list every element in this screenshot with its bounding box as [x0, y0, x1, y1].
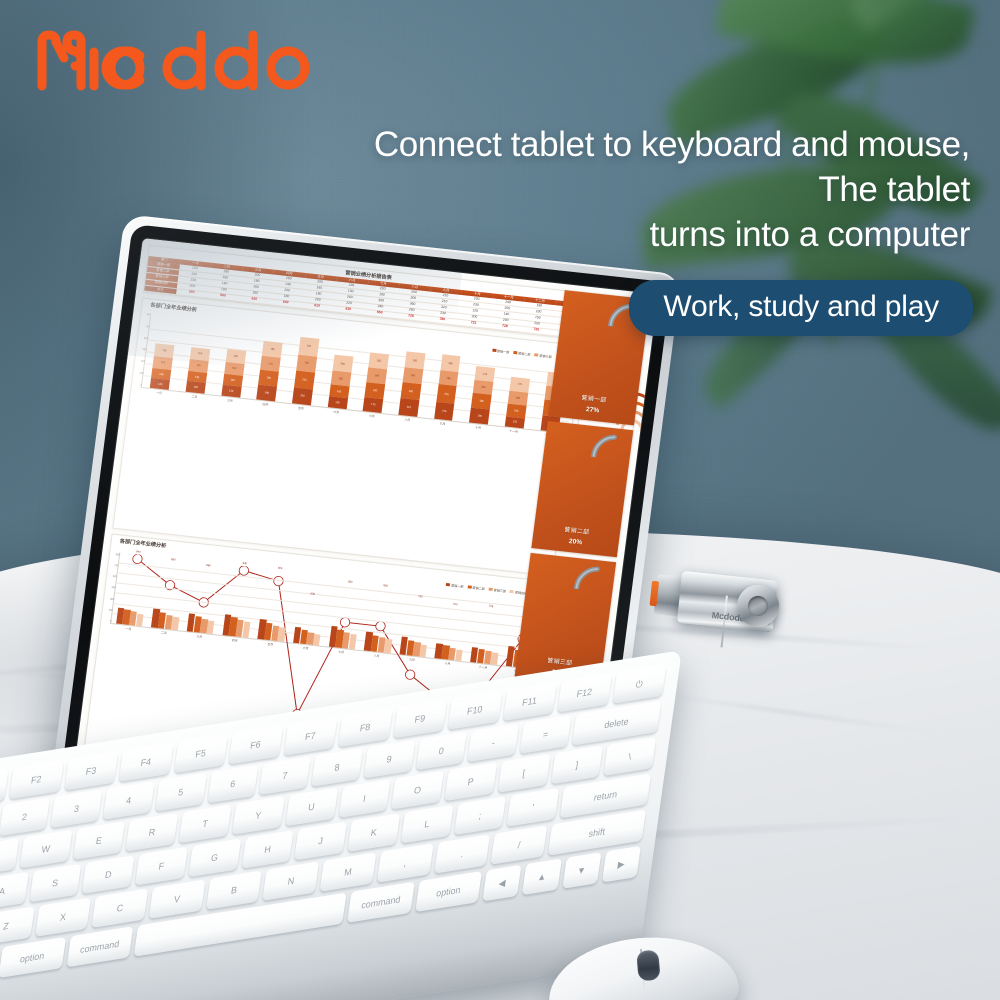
keyboard-key[interactable]: / [491, 825, 547, 864]
keyboard-key[interactable]: O [391, 771, 444, 810]
keyboard-key[interactable]: F3 [64, 752, 118, 791]
usb-flash-drive[interactable]: Mcdodo ∽ [650, 548, 809, 661]
line-data-label: 850 [383, 584, 388, 587]
x-axis-label: 六月 [292, 645, 319, 652]
keyboard-key[interactable]: ▲ [522, 859, 561, 896]
line-data-label: 890 [171, 558, 176, 561]
keyboard-key[interactable]: ▶ [602, 846, 641, 883]
keyboard-key[interactable]: D [82, 855, 135, 894]
x-axis-label: 三月 [220, 397, 239, 403]
bar-segment: 200 [401, 382, 422, 400]
keyboard-key[interactable]: 9 [363, 740, 415, 779]
keyboard-key[interactable]: Z [0, 907, 34, 946]
x-axis-label: 二月 [150, 629, 177, 636]
headline: Connect tablet to keyboard and mouse, Th… [374, 122, 970, 257]
x-axis-label: 八月 [363, 652, 390, 659]
headline-line-2: The tablet [374, 167, 970, 212]
keyboard-key[interactable]: L [401, 805, 454, 844]
keyboard-key[interactable]: C [92, 889, 148, 928]
keyboard-key[interactable]: X [35, 898, 91, 937]
keyboard-key[interactable]: . [434, 834, 490, 873]
x-axis-label: 四月 [256, 401, 275, 407]
keyboard-key[interactable]: 0 [416, 732, 468, 771]
keyboard-key[interactable]: - [468, 723, 520, 762]
bar-segment: 180 [257, 385, 278, 401]
bar-group: 二月 [151, 557, 187, 630]
keyboard-key[interactable]: T [179, 804, 232, 843]
keyboard-key[interactable]: 5 [155, 773, 207, 812]
bar-segment: 175 [363, 397, 384, 413]
keyboard-key[interactable]: H [241, 830, 294, 869]
keyboard-key[interactable]: F1 [0, 769, 9, 808]
keyboard-key[interactable]: Q [0, 838, 19, 877]
keyboard-key[interactable]: F6 [228, 725, 282, 764]
x-axis-label: 七月 [362, 413, 381, 419]
keyboard-key[interactable]: P [444, 762, 497, 801]
keyboard-key[interactable]: R [126, 813, 179, 852]
bar-group: 三月 [187, 561, 223, 634]
keyboard-key[interactable]: option [0, 937, 66, 978]
kpi-card-value: 27% [586, 406, 600, 414]
usb-housing: Mcdodo ∽ [677, 571, 778, 633]
stacked-bar: 190185215215九月 [434, 355, 461, 421]
gauge-arc-icon [572, 562, 601, 591]
keyboard-key[interactable]: F11 [502, 682, 556, 721]
keyboard-key[interactable]: Y [232, 796, 285, 835]
bar [242, 621, 250, 638]
keyboard-key[interactable]: , [377, 843, 433, 882]
line-data-label: 925 [278, 567, 283, 570]
bar-segment: 120 [150, 378, 170, 390]
keyboard-key[interactable]: F10 [448, 691, 502, 730]
kpi-card-name: 营销一部 [581, 393, 607, 405]
keyboard-key[interactable]: F12 [557, 673, 611, 712]
keyboard-key[interactable]: F4 [119, 743, 173, 782]
bar-segment: 215 [436, 384, 457, 403]
keyboard-key[interactable]: command [347, 882, 414, 923]
line-data-label: 850 [348, 580, 353, 583]
x-axis-label: 一月 [115, 625, 142, 632]
bar-group: 一月 [116, 553, 152, 626]
x-axis-label: 十一月 [504, 428, 523, 434]
x-axis-label: 五月 [291, 405, 310, 411]
bar-group: 九月 [399, 584, 435, 657]
keyboard-key[interactable]: 3 [51, 789, 103, 828]
keyboard-key[interactable]: F8 [338, 708, 392, 747]
stacked-bar: 155145135130二月 [186, 347, 211, 394]
kpi-card-name: 营销二部 [564, 524, 590, 536]
keyboard-key[interactable]: 2 [0, 798, 50, 837]
keyboard-key[interactable]: ] [551, 746, 604, 785]
x-axis-label: 十一月 [469, 664, 496, 671]
keyboard-key[interactable]: S [29, 864, 82, 903]
tagline-badge: Work, study and play [629, 280, 973, 336]
bar-segment: 220 [298, 337, 319, 356]
x-axis-label: 六月 [327, 409, 346, 415]
headline-line-3: turns into a computer [374, 212, 970, 257]
line-data-label: 940 [242, 562, 247, 565]
bar-segment: 215 [434, 401, 455, 420]
keyboard-key[interactable]: = [520, 715, 572, 754]
keyboard-key[interactable]: ⏻ [612, 665, 666, 704]
keyboard-key[interactable]: 7 [259, 756, 311, 795]
bar-group: 七月 [328, 576, 364, 649]
line-data-label: 750 [418, 595, 423, 598]
potted-plant-decor [600, 0, 1000, 540]
gauge-arc-icon [590, 431, 619, 460]
keyboard-key[interactable]: M [320, 852, 376, 891]
keyboard-key[interactable]: V [149, 879, 205, 918]
headline-line-1: Connect tablet to keyboard and mouse, [374, 122, 970, 167]
line-data-label: 726 [489, 605, 494, 608]
bar [278, 627, 286, 642]
keyboard-key[interactable]: B [206, 870, 262, 909]
keyboard-key[interactable]: ' [507, 788, 560, 827]
line-data-label: 860 [206, 564, 211, 567]
line-data-label: 636 [310, 592, 315, 595]
mouse-scroll-wheel[interactable] [636, 949, 661, 981]
keyboard-key[interactable]: ▼ [562, 852, 601, 889]
bar [419, 644, 427, 657]
keyboard-key[interactable]: \ [604, 737, 657, 776]
bar-group: 八月 [364, 580, 400, 653]
keyboard-key[interactable]: G [188, 838, 241, 877]
keyboard-key[interactable]: 8 [311, 748, 363, 787]
keyboard-key[interactable]: F2 [9, 760, 63, 799]
bar-segment: 215 [294, 370, 315, 389]
bar-segment: 125 [505, 416, 525, 428]
bar [455, 649, 463, 661]
stacked-bar-panel: 各部门全年业绩分析 营销一部营销二部营销三部营销四部 0150300450600… [112, 297, 583, 576]
bar [313, 634, 321, 646]
bar [490, 652, 498, 665]
marketing-scene: Connect tablet to keyboard and mouse, Th… [0, 0, 1000, 1000]
keyboard-key[interactable]: U [285, 788, 338, 827]
keyboard-key[interactable]: ◀ [483, 865, 522, 902]
keyboard-key[interactable]: I [338, 779, 391, 818]
bar [207, 620, 215, 634]
stacked-bar: 185175190180四月 [257, 341, 283, 401]
stacked-bar: 175160165125十一月 [505, 377, 530, 429]
bar [136, 613, 144, 626]
bar [384, 639, 392, 653]
keyboard-key[interactable]: F [135, 847, 188, 886]
stacked-bar: 195190200210八月 [398, 352, 425, 417]
bar-group: 四月 [222, 565, 258, 638]
bar-group: 十一月 [470, 592, 506, 665]
kpi-card-value: 20% [568, 538, 582, 546]
bar-segment: 200 [292, 387, 313, 405]
keyboard-key[interactable]: F9 [393, 699, 447, 738]
stacked-bar: 200165160130六月 [327, 355, 352, 409]
x-axis-label: 八月 [398, 417, 417, 423]
x-axis-label: 九月 [433, 421, 452, 427]
x-axis-label: 三月 [186, 633, 213, 640]
bar-group: 六月 [293, 572, 329, 645]
keyboard-key[interactable]: [ [497, 754, 550, 793]
bar [171, 617, 179, 630]
line-data-label: 700 [453, 603, 458, 606]
keyboard-key[interactable]: A [0, 872, 28, 911]
keyboard-key[interactable]: N [263, 861, 319, 900]
stacked-bar: 160150140135三月 [221, 349, 246, 397]
bar [349, 634, 357, 649]
keyboard-key[interactable]: K [348, 813, 401, 852]
keyboard-key[interactable]: F5 [174, 734, 228, 773]
stacked-bar: 160150130120一月 [150, 343, 174, 389]
keyboard-key[interactable]: option [415, 871, 482, 912]
mcdodo-logo [36, 30, 311, 92]
x-axis-label: 四月 [221, 637, 248, 644]
bar-group: 五月 [258, 568, 294, 641]
x-axis-label: 七月 [328, 648, 355, 655]
x-axis-label: 五月 [257, 641, 284, 648]
bar-segment: 210 [398, 398, 419, 417]
keyboard-key[interactable]: ; [454, 796, 507, 835]
x-axis-label: 十月 [434, 660, 461, 667]
bar-segment: 130 [186, 381, 206, 393]
keyboard-key[interactable]: 6 [207, 765, 259, 804]
keyboard-key[interactable]: 4 [103, 781, 155, 820]
keyboard-key[interactable]: E [73, 821, 126, 860]
bar-group: 十月 [435, 588, 471, 661]
x-axis-label: 二月 [185, 394, 204, 400]
keyboard-key[interactable]: command [66, 926, 133, 967]
x-axis-label: 十月 [469, 424, 488, 430]
bar-segment: 135 [221, 385, 241, 398]
bar-segment: 130 [327, 397, 347, 409]
bar-segment: 190 [469, 407, 490, 424]
keyboard-key[interactable]: J [294, 822, 347, 861]
x-axis-label: 九月 [399, 656, 426, 663]
x-axis-label: 一月 [149, 390, 168, 396]
kpi-card[interactable]: 营销二部20% [531, 421, 633, 556]
stacked-bar: 185180190175七月 [363, 353, 389, 413]
kpi-card-name: 营销三部 [547, 655, 573, 667]
keyboard-key[interactable]: W [20, 830, 73, 869]
line-data-label: 940 [136, 551, 141, 554]
keyboard-key[interactable]: F7 [283, 717, 337, 756]
